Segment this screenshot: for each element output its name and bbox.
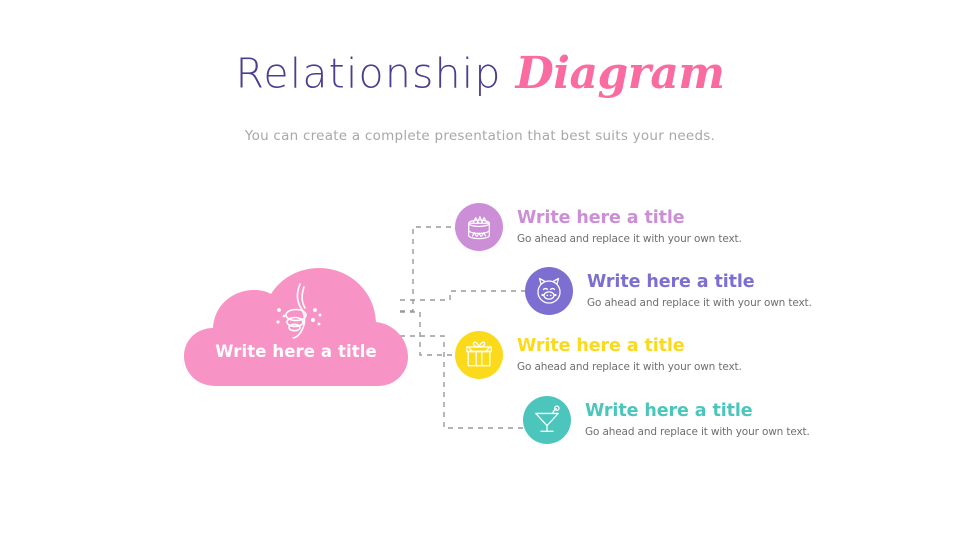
page-subtitle: You can create a complete presentation t…	[0, 128, 960, 144]
title-main-text: Relationship	[236, 50, 502, 98]
connector-path-2	[400, 291, 525, 300]
page-title: RelationshipDiagram	[0, 48, 960, 99]
item-text-block: Write here a title Go ahead and replace …	[587, 273, 812, 309]
party-streamer-icon	[266, 280, 328, 342]
item-title: Write here a title	[517, 209, 742, 228]
item-description: Go ahead and replace it with your own te…	[587, 297, 812, 309]
item-description: Go ahead and replace it with your own te…	[585, 426, 810, 438]
item-title: Write here a title	[517, 337, 742, 356]
hub-label: Write here a title	[180, 342, 412, 361]
cake-icon	[464, 212, 494, 242]
title-accent-text: Diagram	[516, 48, 725, 99]
list-item[interactable]: Write here a title Go ahead and replace …	[455, 203, 742, 251]
list-item[interactable]: Write here a title Go ahead and replace …	[455, 331, 742, 379]
item-icon-badge[interactable]	[455, 203, 503, 251]
list-item[interactable]: Write here a title Go ahead and replace …	[523, 396, 810, 444]
item-text-block: Write here a title Go ahead and replace …	[517, 337, 742, 373]
item-icon-badge[interactable]	[523, 396, 571, 444]
item-text-block: Write here a title Go ahead and replace …	[517, 209, 742, 245]
item-title: Write here a title	[585, 402, 810, 421]
slide-canvas: RelationshipDiagram You can create a com…	[0, 0, 960, 540]
item-description: Go ahead and replace it with your own te…	[517, 233, 742, 245]
gift-box-icon	[464, 340, 494, 370]
cocktail-glass-icon	[532, 405, 562, 435]
list-item[interactable]: Write here a title Go ahead and replace …	[525, 267, 812, 315]
pig-face-icon	[533, 275, 565, 307]
item-title: Write here a title	[587, 273, 812, 292]
item-description: Go ahead and replace it with your own te…	[517, 361, 742, 373]
hub-cloud[interactable]: Write here a title	[180, 268, 412, 390]
item-icon-badge[interactable]	[525, 267, 573, 315]
item-icon-badge[interactable]	[455, 331, 503, 379]
item-text-block: Write here a title Go ahead and replace …	[585, 402, 810, 438]
